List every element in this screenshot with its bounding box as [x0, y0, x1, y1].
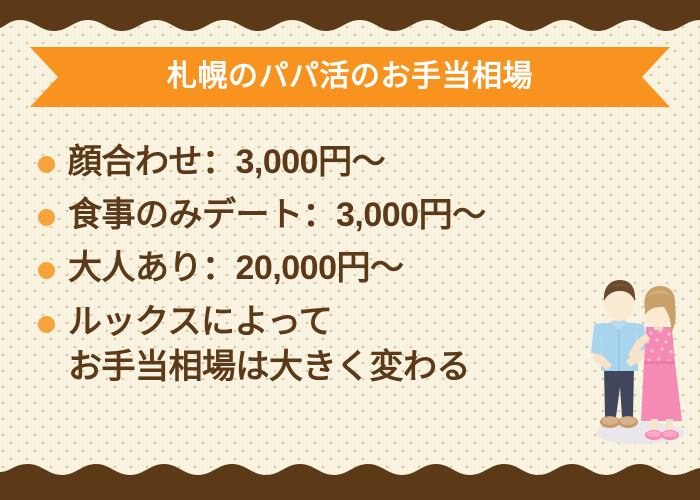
page-title: 札幌のパパ活のお手当相場 — [30, 47, 670, 107]
bullet-dot-icon — [38, 156, 55, 173]
list-item-label: 大人あり：20,000円〜 — [68, 246, 404, 291]
list-item: 大人あり：20,000円〜 — [38, 246, 638, 291]
list-item: 食事のみデート：3,000円〜 — [38, 193, 638, 238]
benefit-list: 顔合わせ：3,000円〜 食事のみデート：3,000円〜 大人あり：20,000… — [38, 140, 638, 398]
list-item: 顔合わせ：3,000円〜 — [38, 140, 638, 185]
title-ribbon: 札幌のパパ活のお手当相場 — [30, 47, 670, 107]
bullet-dot-icon — [38, 209, 55, 226]
bullet-dot-icon — [38, 262, 55, 279]
couple-illustration — [578, 275, 696, 447]
list-item-label: 食事のみデート：3,000円〜 — [68, 193, 486, 238]
list-item: ルックスによって お手当相場は大きく変わる — [38, 300, 638, 390]
bullet-dot-icon — [38, 316, 55, 333]
list-item-label: ルックスによって お手当相場は大きく変わる — [68, 300, 470, 390]
list-item-label: 顔合わせ：3,000円〜 — [68, 140, 385, 185]
infographic-card: 札幌のパパ活のお手当相場 顔合わせ：3,000円〜 食事のみデート：3,000円… — [0, 0, 700, 500]
